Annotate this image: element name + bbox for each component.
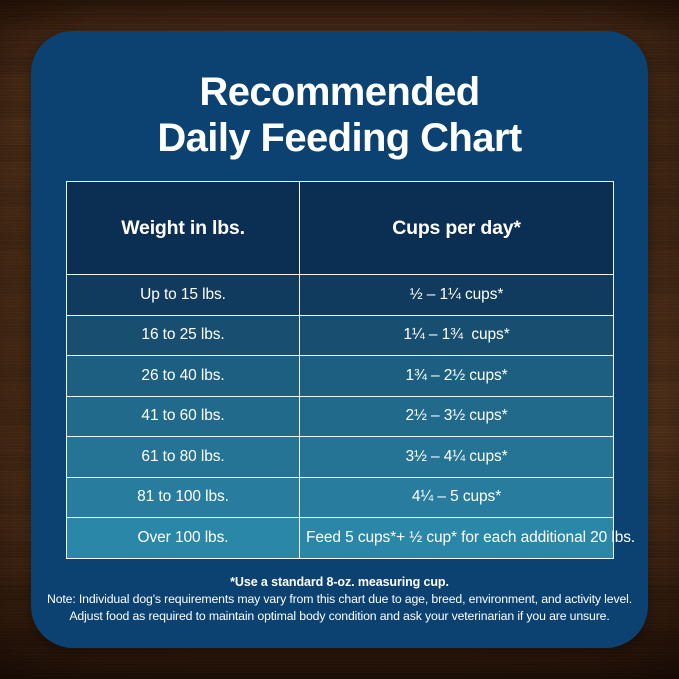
feeding-chart-card: Recommended Daily Feeding Chart Weight i… xyxy=(31,31,648,648)
cell-cups: Feed 5 cups*+ ½ cup* for each additional… xyxy=(300,518,614,559)
table-row: Up to 15 lbs. ½ – 1¼ cups* xyxy=(67,275,614,316)
cell-weight: 61 to 80 lbs. xyxy=(67,437,300,478)
column-header-cups: Cups per day* xyxy=(300,182,614,275)
cell-weight: Over 100 lbs. xyxy=(67,518,300,559)
footnotes: *Use a standard 8-oz. measuring cup. Not… xyxy=(31,574,648,625)
cell-weight: 26 to 40 lbs. xyxy=(67,356,300,397)
cell-weight: 41 to 60 lbs. xyxy=(67,396,300,437)
table-row: 16 to 25 lbs. 1¼ – 1¾ cups* xyxy=(67,315,614,356)
footnote-measuring-cup: *Use a standard 8-oz. measuring cup. xyxy=(31,574,648,591)
cell-weight: Up to 15 lbs. xyxy=(67,275,300,316)
column-header-weight: Weight in lbs. xyxy=(67,182,300,275)
page-title-line-2: Daily Feeding Chart xyxy=(31,115,648,161)
table-row: 81 to 100 lbs. 4¼ – 5 cups* xyxy=(67,477,614,518)
cell-weight: 81 to 100 lbs. xyxy=(67,477,300,518)
feeding-chart-table: Weight in lbs. Cups per day* Up to 15 lb… xyxy=(66,181,614,559)
table-row: Over 100 lbs. Feed 5 cups*+ ½ cup* for e… xyxy=(67,518,614,559)
cell-cups: 4¼ – 5 cups* xyxy=(300,477,614,518)
footnote-note-line-2: Adjust food as required to maintain opti… xyxy=(31,608,648,625)
cell-cups: 3½ – 4¼ cups* xyxy=(300,437,614,478)
table-row: 26 to 40 lbs. 1¾ – 2½ cups* xyxy=(67,356,614,397)
table-row: 41 to 60 lbs. 2½ – 3½ cups* xyxy=(67,396,614,437)
cell-cups: 1¼ – 1¾ cups* xyxy=(300,315,614,356)
cell-cups: ½ – 1¼ cups* xyxy=(300,275,614,316)
cell-weight: 16 to 25 lbs. xyxy=(67,315,300,356)
cell-cups: 1¾ – 2½ cups* xyxy=(300,356,614,397)
cell-cups: 2½ – 3½ cups* xyxy=(300,396,614,437)
table-row: 61 to 80 lbs. 3½ – 4¼ cups* xyxy=(67,437,614,478)
footnote-note-line-1: Note: Individual dog's requirements may … xyxy=(31,591,648,608)
page-title: Recommended Daily Feeding Chart xyxy=(31,69,648,161)
table-header-row: Weight in lbs. Cups per day* xyxy=(67,182,614,275)
page-title-line-1: Recommended xyxy=(31,69,648,115)
